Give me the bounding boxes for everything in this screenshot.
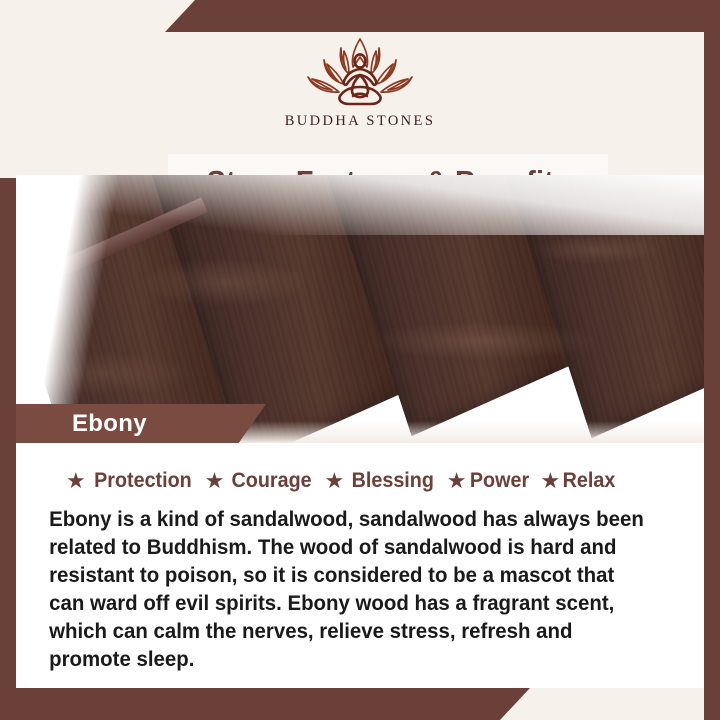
feature-label: Relax [563,469,616,493]
feature-label: Protection [94,469,192,493]
lotus-meditation-icon [299,36,421,110]
feature-item: ★ Relax [541,469,618,493]
photo-left-fade [16,175,136,443]
star-icon: ★ [447,470,467,492]
product-photo [16,175,704,443]
star-icon: ★ [325,470,345,492]
product-description: Ebony is a kind of sandalwood, sandalwoo… [32,505,659,673]
features-list: ★ Protection ★ Courage ★ Blessing ★ Powe… [32,469,692,493]
product-label-band: Ebony [16,404,266,444]
star-icon: ★ [541,470,561,492]
frame-left-bar [0,178,16,720]
feature-item: ★ Blessing [325,469,437,493]
frame-bottom-bar [0,688,720,720]
brand-name: BUDDHA STONES [285,113,436,130]
star-icon: ★ [66,470,86,492]
star-icon: ★ [205,470,225,492]
header: BUDDHA STONES Stone Features & Benefits [16,32,704,177]
feature-label: Courage [232,469,312,493]
infographic-page: BUDDHA STONES Stone Features & Benefits … [0,0,720,720]
product-label: Ebony [72,410,147,438]
feature-label: Power [469,469,528,493]
content-card: ★ Protection ★ Courage ★ Blessing ★ Powe… [16,443,704,688]
brand-logo: BUDDHA STONES [16,36,704,130]
feature-item: ★ Protection [66,469,195,493]
feature-item: ★ Courage [205,469,315,493]
feature-label: Blessing [352,469,434,493]
feature-item: ★ Power [447,469,531,493]
frame-top-bar [0,0,720,32]
frame-right-bar [704,0,720,720]
